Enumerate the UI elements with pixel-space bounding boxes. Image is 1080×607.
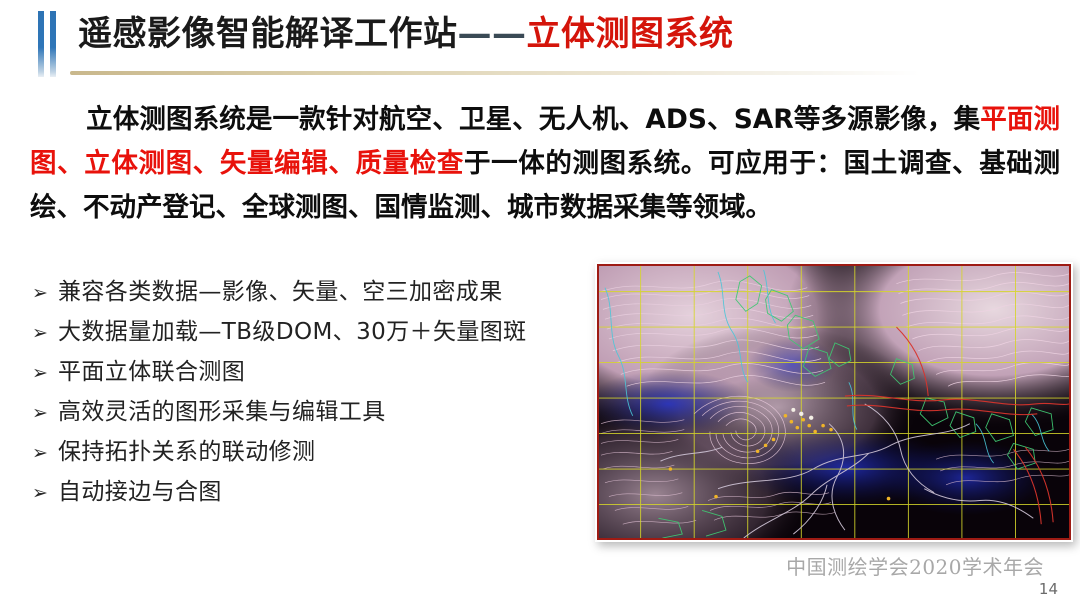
list-item: ➢ 大数据量加载—TB级DOM、30万＋矢量图斑: [32, 312, 592, 352]
title-accent-bars: [38, 11, 60, 77]
footer-conference-label: 中国测绘学会2020学术年会: [786, 551, 1044, 580]
arrow-bullet-icon: ➢: [32, 313, 58, 353]
paragraph-segment-1: 立体测图系统是一款针对航空、卫星、无人机、ADS、SAR等多源影像，集: [86, 104, 980, 135]
list-item-label: 高效灵活的图形采集与编辑工具: [58, 392, 386, 432]
arrow-bullet-icon: ➢: [32, 273, 58, 313]
slide-canvas: 遥感影像智能解译工作站——立体测图系统 立体测图系统是一款针对航空、卫星、无人机…: [0, 0, 1080, 607]
page-title-highlight: 立体测图系统: [527, 14, 734, 54]
list-item: ➢ 平面立体联合测图: [32, 352, 592, 392]
intro-paragraph: 立体测图系统是一款针对航空、卫星、无人机、ADS、SAR等多源影像，集平面测图、…: [30, 98, 1060, 230]
title-underline-rule: [70, 71, 920, 75]
title-accent-bar-1: [38, 11, 44, 77]
page-title-main: 遥感影像智能解译工作站: [78, 14, 458, 54]
arrow-bullet-icon: ➢: [32, 433, 58, 473]
arrow-bullet-icon: ➢: [32, 473, 58, 513]
stereo-mapping-screenshot: [595, 262, 1073, 542]
title-accent-bar-2: [50, 11, 56, 77]
list-item: ➢ 高效灵活的图形采集与编辑工具: [32, 392, 592, 432]
map-frame: [597, 264, 1071, 540]
arrow-bullet-icon: ➢: [32, 353, 58, 393]
list-item-label: 兼容各类数据—影像、矢量、空三加密成果: [58, 272, 503, 312]
list-item-label: 大数据量加载—TB级DOM、30万＋矢量图斑: [58, 312, 527, 352]
feature-bullet-list: ➢ 兼容各类数据—影像、矢量、空三加密成果 ➢ 大数据量加载—TB级DOM、30…: [32, 272, 592, 512]
arrow-bullet-icon: ➢: [32, 393, 58, 433]
list-item: ➢ 兼容各类数据—影像、矢量、空三加密成果: [32, 272, 592, 312]
page-title: 遥感影像智能解译工作站——立体测图系统: [78, 14, 734, 55]
list-item: ➢ 自动接边与合图: [32, 472, 592, 512]
page-number: 14: [1039, 580, 1058, 598]
page-title-dash: ——: [458, 14, 527, 54]
list-item-label: 平面立体联合测图: [58, 352, 245, 392]
list-item: ➢ 保持拓扑关系的联动修测: [32, 432, 592, 472]
list-item-label: 保持拓扑关系的联动修测: [58, 432, 315, 472]
contour-map-graphic: [599, 266, 1069, 538]
list-item-label: 自动接边与合图: [58, 472, 222, 512]
